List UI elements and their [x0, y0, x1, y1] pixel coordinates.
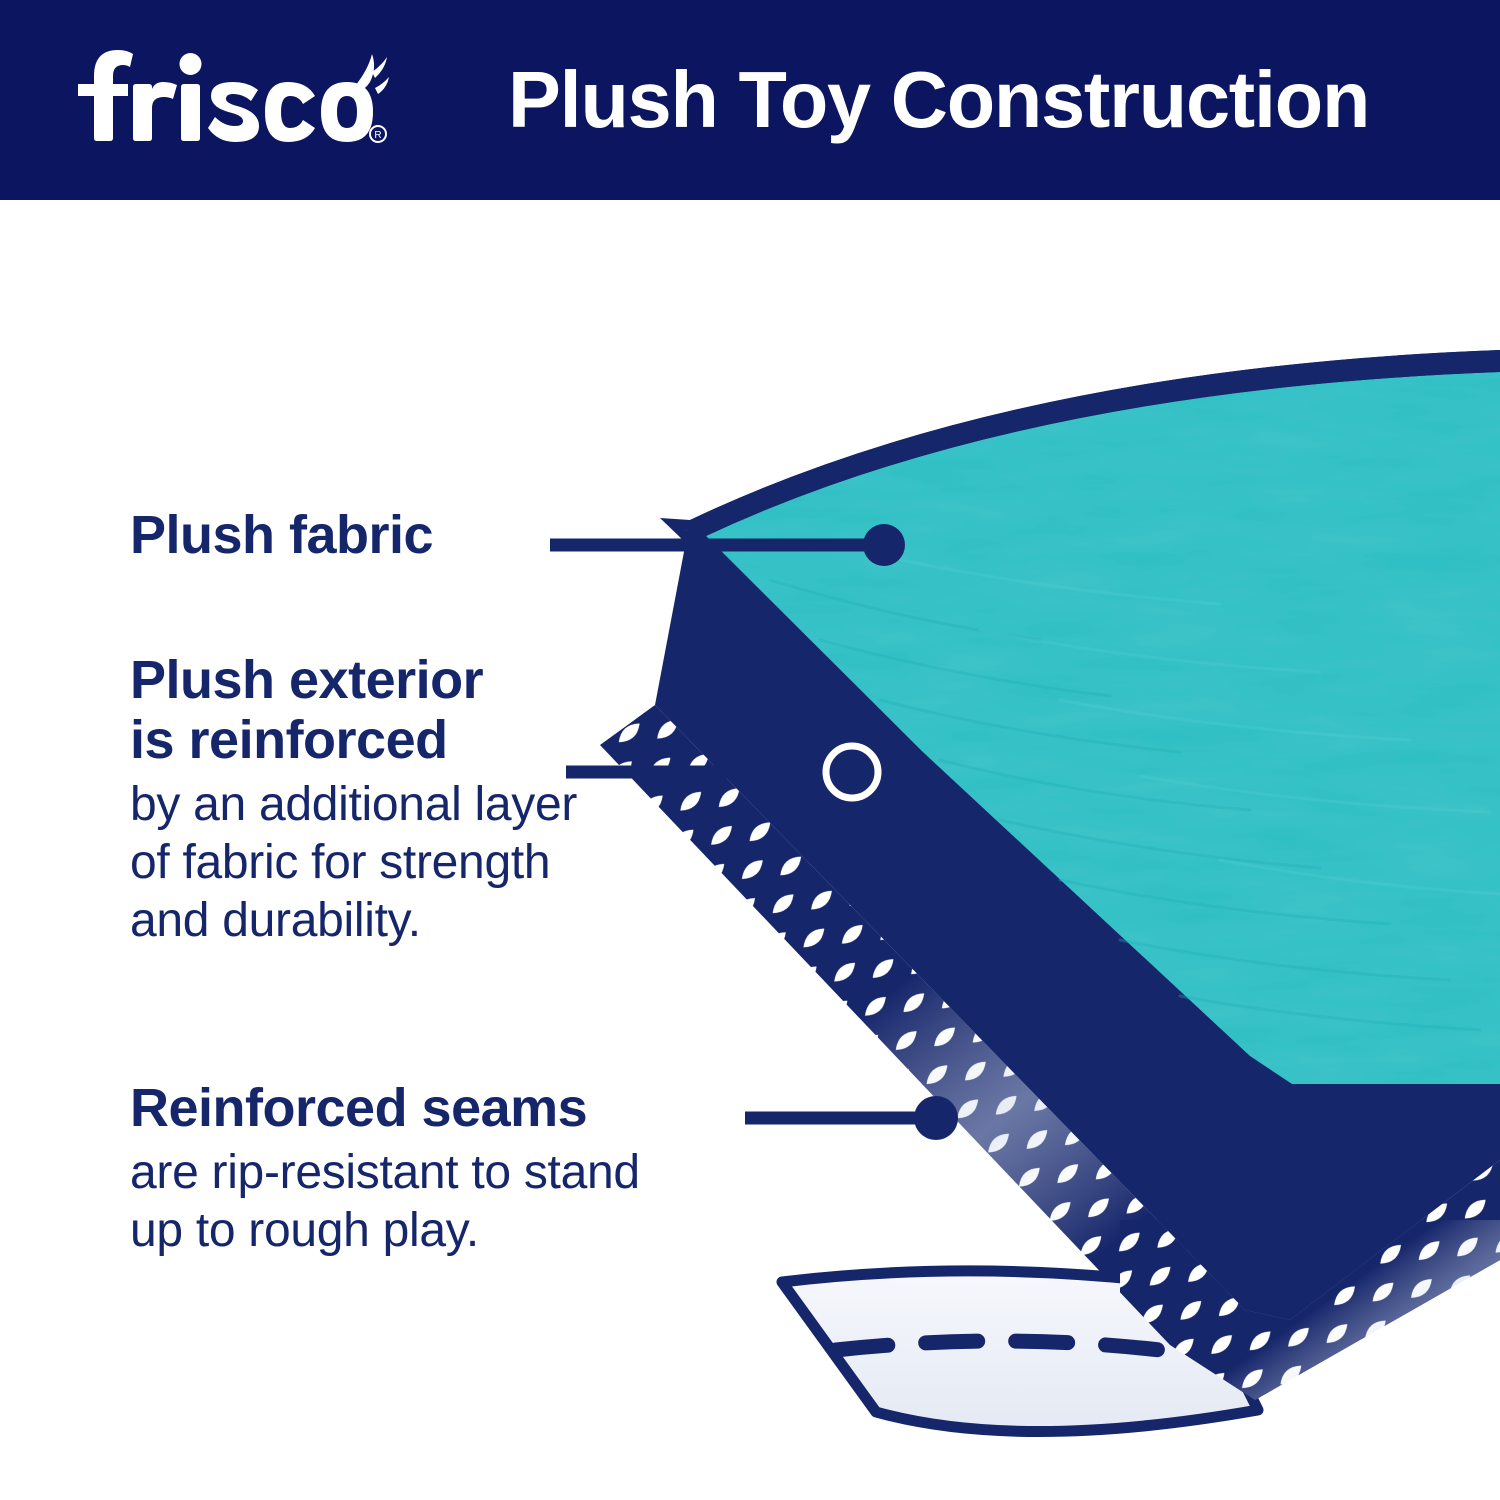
marker-dot-plush-exterior: [831, 751, 873, 793]
infographic-page: R Plush Toy Construction: [0, 0, 1500, 1500]
callout-reinforced-seams-body: are rip-resistant to stand up to rough p…: [130, 1144, 800, 1260]
callout-plush-exterior: Plush exterior is reinforced by an addit…: [130, 650, 730, 950]
frisco-wordmark-icon: R: [72, 42, 392, 152]
callout-plush-fabric-headline: Plush fabric: [130, 505, 560, 565]
marker-dot-plush-fabric: [863, 524, 905, 566]
callout-plush-fabric: Plush fabric: [130, 505, 560, 565]
registered-trademark-icon: R: [370, 126, 386, 142]
svg-text:R: R: [374, 130, 381, 141]
header-band: R Plush Toy Construction: [0, 0, 1500, 200]
frisco-logo: R: [72, 42, 392, 152]
callout-reinforced-seams: Reinforced seams are rip-resistant to st…: [130, 1078, 800, 1260]
callout-reinforced-seams-headline: Reinforced seams: [130, 1078, 800, 1138]
callout-plush-exterior-headline: Plush exterior is reinforced: [130, 650, 730, 770]
page-title: Plush Toy Construction: [508, 48, 1399, 152]
callout-plush-exterior-body: by an additional layer of fabric for str…: [130, 776, 730, 950]
marker-dot-reinforced-seams: [914, 1096, 958, 1140]
